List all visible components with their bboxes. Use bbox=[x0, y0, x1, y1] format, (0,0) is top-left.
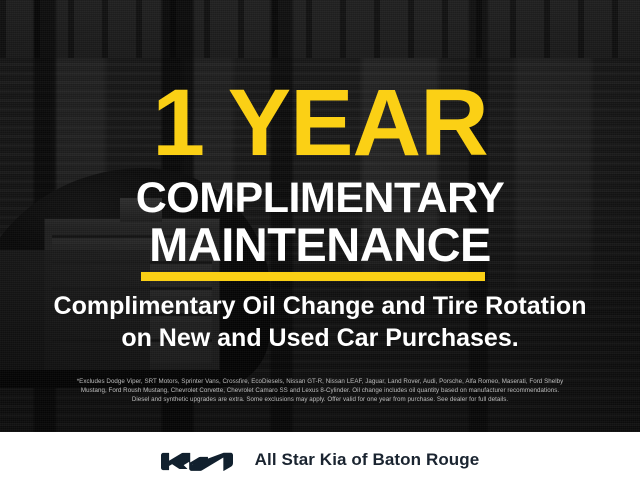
kia-logo-icon bbox=[161, 449, 233, 471]
dealer-footer: All Star Kia of Baton Rouge bbox=[0, 432, 640, 488]
disclaimer-line-1: *Excludes Dodge Viper, SRT Motors, Sprin… bbox=[16, 378, 624, 387]
accent-divider-bar bbox=[141, 272, 485, 281]
subcopy-line-2: on New and Used Car Purchases. bbox=[0, 322, 640, 354]
dealer-name: All Star Kia of Baton Rouge bbox=[255, 450, 480, 470]
offer-subcopy: Complimentary Oil Change and Tire Rotati… bbox=[0, 290, 640, 354]
headline-line-2: MAINTENANCE bbox=[0, 223, 640, 268]
disclaimer-text: *Excludes Dodge Viper, SRT Motors, Sprin… bbox=[16, 378, 624, 405]
disclaimer-line-3: Diesel and synthetic upgrades are extra.… bbox=[16, 396, 624, 405]
promo-content: 1 YEAR COMPLIMENTARY MAINTENANCE Complim… bbox=[0, 0, 640, 432]
disclaimer-line-2: Mustang, Ford Roush Mustang, Chevrolet C… bbox=[16, 387, 624, 396]
headline-maintenance: COMPLIMENTARY MAINTENANCE bbox=[0, 178, 640, 267]
subcopy-line-1: Complimentary Oil Change and Tire Rotati… bbox=[54, 292, 587, 320]
headline-line-1: COMPLIMENTARY bbox=[0, 178, 640, 219]
promotional-banner: 1 YEAR COMPLIMENTARY MAINTENANCE Complim… bbox=[0, 0, 640, 488]
headline-year: 1 YEAR bbox=[0, 76, 640, 171]
